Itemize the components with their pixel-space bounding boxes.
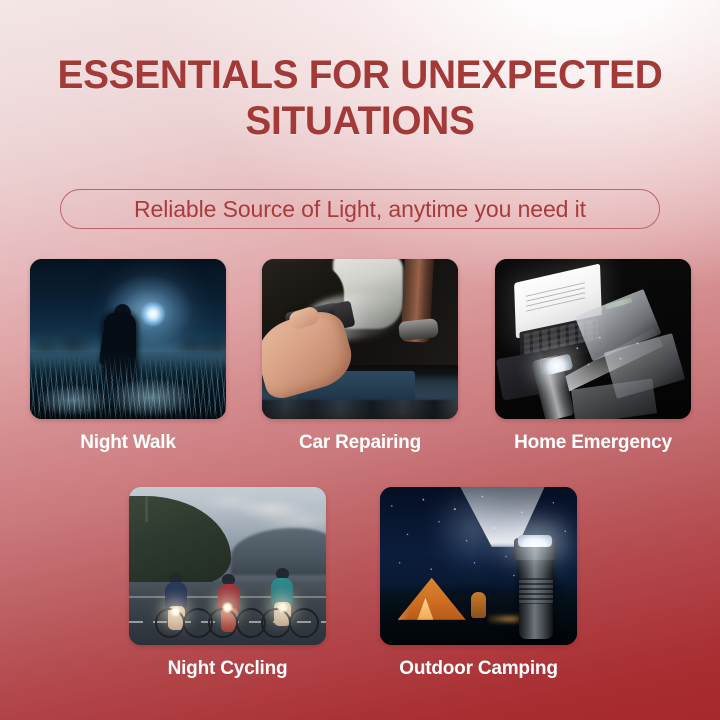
card-caption: Outdoor Camping xyxy=(380,658,577,680)
home-emergency-thumbnail xyxy=(495,259,691,419)
paper-sheet-bottom xyxy=(571,378,657,419)
use-case-card-home-emergency: Home Emergency xyxy=(495,259,691,454)
car-repairing-scene xyxy=(262,259,458,419)
card-caption: Home Emergency xyxy=(495,432,691,454)
outdoor-camping-thumbnail xyxy=(380,487,577,645)
use-case-card-outdoor-camping: Outdoor Camping xyxy=(380,487,577,680)
use-case-card-car-repairing: Car Repairing xyxy=(262,259,458,454)
subtitle-text: Reliable Source of Light, anytime you ne… xyxy=(134,196,586,223)
promo-poster: ESSENTIALS FOR UNEXPECTED SITUATIONS Rel… xyxy=(0,0,720,720)
car-repairing-thumbnail xyxy=(262,259,458,419)
use-case-card-night-walk: Night Walk xyxy=(30,259,226,454)
dust-sparkles xyxy=(566,329,660,377)
page-title-line-1: ESSENTIALS FOR UNEXPECTED xyxy=(11,52,709,98)
flashlight-lens xyxy=(518,535,552,547)
outdoor-camping-scene xyxy=(380,487,577,645)
bicycle-headlight-icon xyxy=(221,601,234,614)
bicycle-headlight-icon xyxy=(276,601,289,614)
bicycle-headlight-icon xyxy=(169,605,182,618)
night-cycling-thumbnail xyxy=(129,487,326,645)
grass-blades xyxy=(30,355,226,419)
night-walk-thumbnail xyxy=(30,259,226,419)
subtitle-pill: Reliable Source of Light, anytime you ne… xyxy=(60,189,660,229)
garage-clutter xyxy=(262,400,458,419)
bicycle-wheel xyxy=(289,608,319,638)
page-title-line-2: SITUATIONS xyxy=(11,98,709,144)
night-cycling-scene xyxy=(129,487,326,645)
card-caption: Night Walk xyxy=(30,432,226,454)
page-title: ESSENTIALS FOR UNEXPECTED SITUATIONS xyxy=(11,52,709,144)
use-case-card-night-cycling: Night Cycling xyxy=(129,487,326,680)
cyclist-head xyxy=(169,572,182,583)
card-caption: Car Repairing xyxy=(262,432,458,454)
card-caption: Night Cycling xyxy=(129,658,326,680)
flashlight-glow-icon xyxy=(140,301,166,327)
tower-shape xyxy=(145,496,148,522)
camper-figure xyxy=(471,592,486,618)
cyclist-head xyxy=(222,574,235,585)
home-emergency-scene xyxy=(495,259,691,419)
flashlight-grip xyxy=(519,578,553,604)
night-walk-scene xyxy=(30,259,226,419)
cyclist-head xyxy=(276,568,289,579)
